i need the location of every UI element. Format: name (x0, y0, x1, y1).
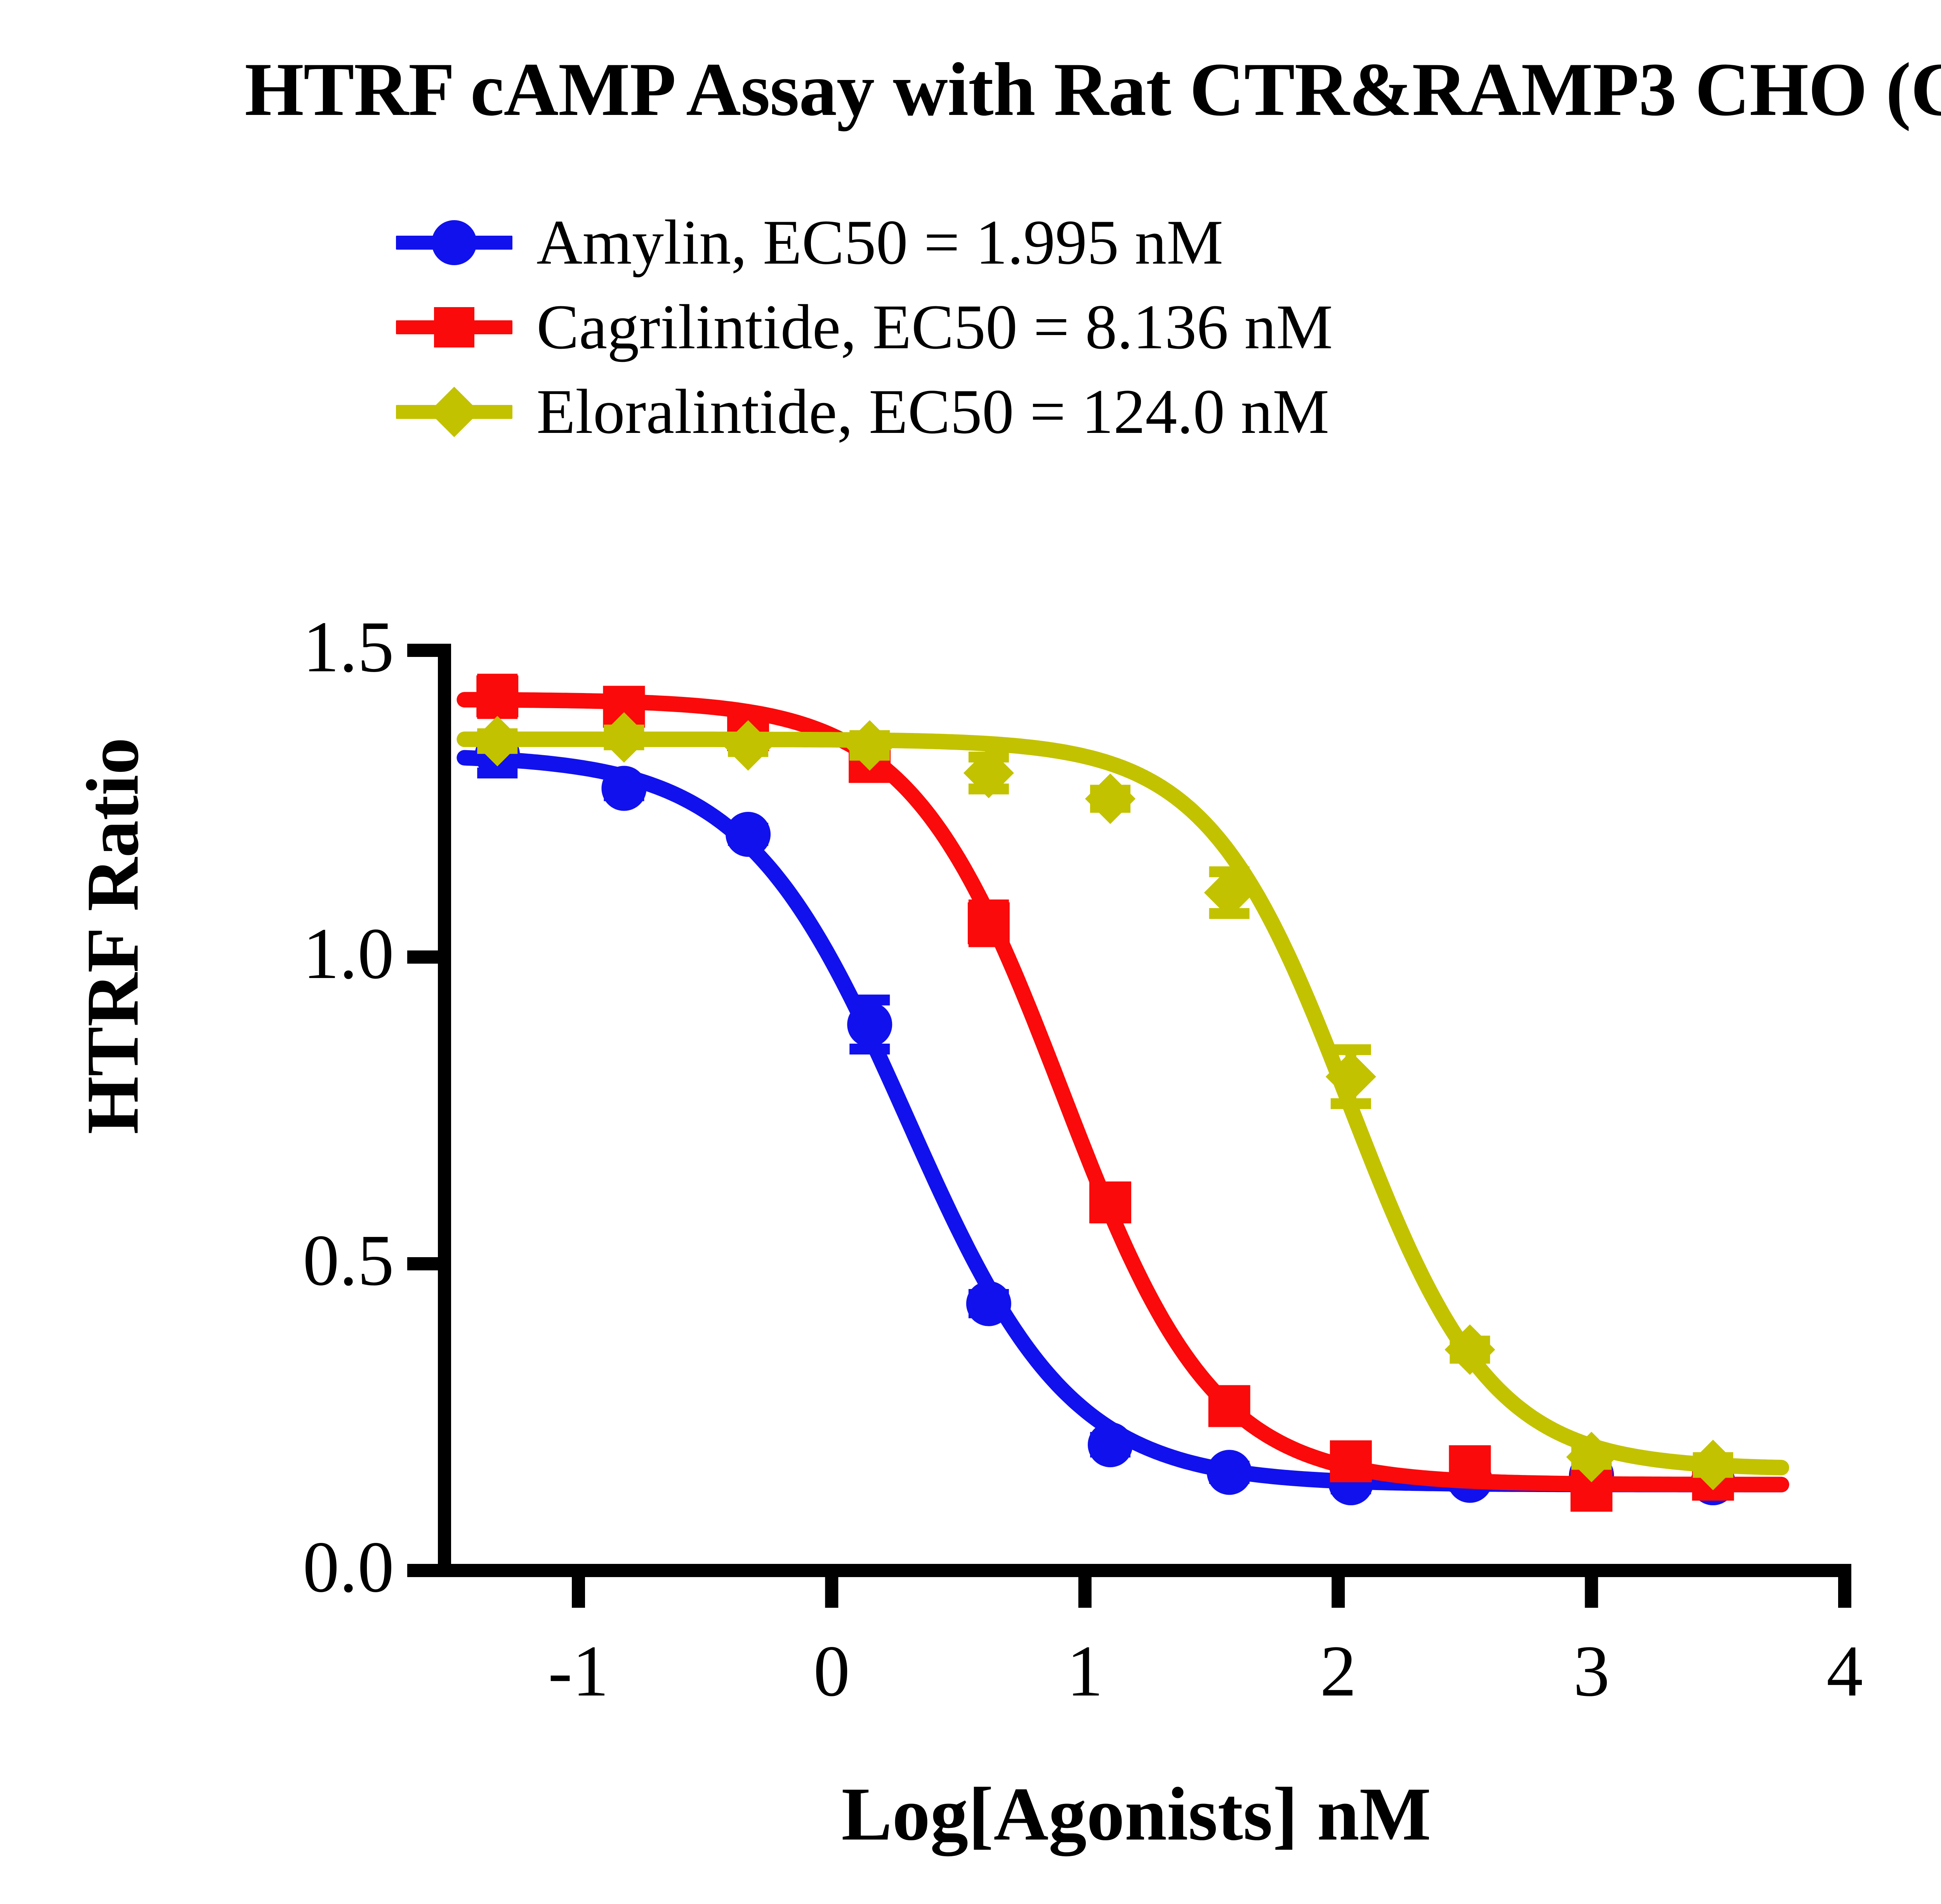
curve-cagrilintide (464, 700, 1781, 1484)
data-point-square[interactable] (1089, 1181, 1131, 1223)
data-point-circle[interactable] (601, 766, 646, 811)
data-point-diamond[interactable] (1085, 773, 1135, 824)
data-point-circle[interactable] (966, 1281, 1011, 1326)
data-point-circle[interactable] (1207, 1450, 1252, 1495)
data-point-circle[interactable] (1088, 1422, 1133, 1467)
x-axis-title: Log[Agonists] nM (0, 1770, 1941, 1858)
x-tick-label: 2 (1280, 1629, 1396, 1713)
x-tick-label: 4 (1786, 1629, 1903, 1713)
plot-area (0, 0, 1941, 1904)
y-tick-label: 0.0 (303, 1525, 394, 1609)
x-tick-label: 1 (1027, 1629, 1143, 1713)
data-point-circle[interactable] (726, 812, 771, 857)
data-point-square[interactable] (1330, 1440, 1372, 1482)
series-eloralintide (464, 712, 1781, 1490)
data-point-square[interactable] (1208, 1385, 1250, 1427)
series-amylin (464, 732, 1781, 1505)
x-tick-label: -1 (520, 1629, 637, 1713)
data-point-square[interactable] (476, 676, 518, 717)
data-point-square[interactable] (1449, 1445, 1491, 1487)
y-tick-label: 1.0 (303, 911, 394, 995)
series-layer (464, 676, 1781, 1512)
x-tick-label: 3 (1533, 1629, 1650, 1713)
y-tick-label: 1.5 (303, 605, 394, 689)
y-axis-title: HTRF Ratio (70, 664, 156, 1208)
y-tick-label: 0.5 (303, 1218, 394, 1302)
x-tick-label: 0 (773, 1629, 890, 1713)
curve-eloralintide (464, 739, 1781, 1468)
curve-amylin (464, 758, 1781, 1485)
data-point-circle[interactable] (847, 1002, 892, 1047)
data-point-square[interactable] (968, 902, 1010, 944)
figure-root: HTRF cAMP Assay with Rat CTR&RAMP3 CHO (… (0, 0, 1941, 1904)
